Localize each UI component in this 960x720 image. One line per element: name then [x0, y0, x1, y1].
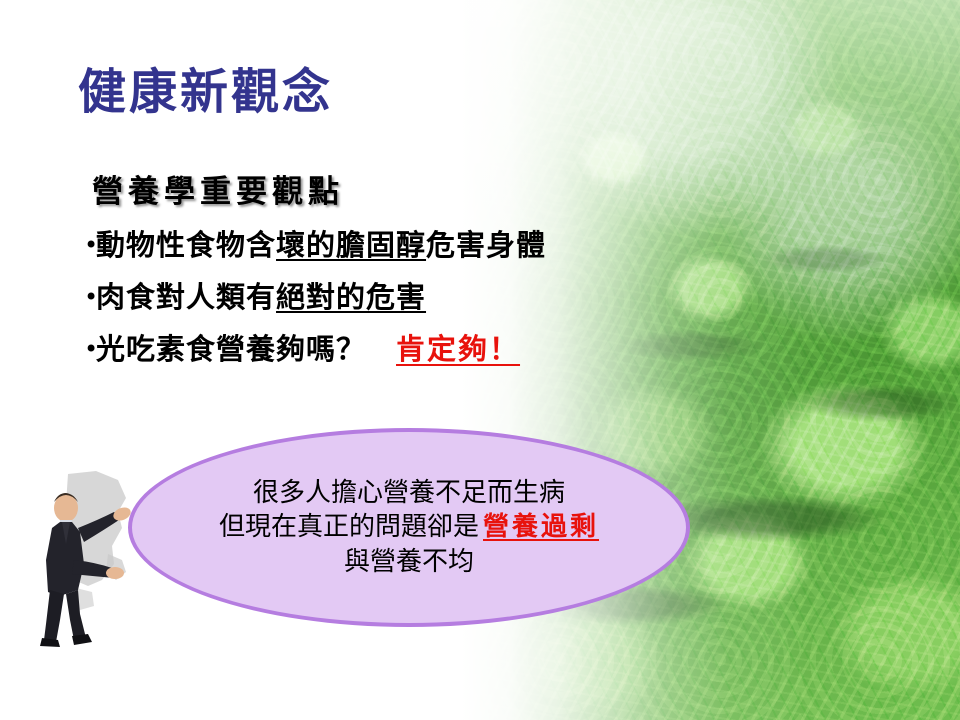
callout-ellipse: 很多人擔心營養不足而生病 但現在真正的問題卻是營養過剩 與營養不均	[128, 428, 690, 627]
callout-line-3: 與營養不均	[344, 545, 474, 580]
bullet-text-underlined: 壞的膽固醇	[276, 228, 426, 262]
bullet-text-underlined: 絕對的危害	[276, 280, 426, 314]
bullet-text-plain: 肉食對人類有	[96, 280, 276, 314]
callout-line-2: 但現在真正的問題卻是營養過剩	[219, 510, 599, 545]
bullet-text-plain: 光吃素食營養夠嗎？	[96, 332, 366, 366]
bullet-item: • 肉食對人類有絕對的危害	[84, 274, 724, 326]
bullet-dot-icon: •	[84, 285, 96, 309]
callout-line-2-plain: 但現在真正的問題卻是	[219, 512, 479, 542]
callout-line-1: 很多人擔心營養不足而生病	[253, 476, 565, 511]
bullet-dot-icon: •	[84, 337, 96, 361]
section-heading: 營養學重要觀點	[92, 166, 344, 211]
slide-title: 健康新觀念	[78, 66, 333, 119]
bullet-item: • 光吃素食營養夠嗎？ 肯定夠！	[84, 326, 724, 378]
bullet-dot-icon: •	[84, 233, 96, 257]
bullet-answer-highlight: 肯定夠！	[396, 326, 520, 368]
bullet-text: 動物性食物含壞的膽固醇危害身體	[96, 222, 546, 264]
bullet-text-plain-tail: 危害身體	[426, 228, 546, 262]
bullet-list: • 動物性食物含壞的膽固醇危害身體 • 肉食對人類有絕對的危害 • 光吃素食營養…	[84, 222, 724, 378]
bullet-item: • 動物性食物含壞的膽固醇危害身體	[84, 222, 724, 274]
callout-emphasis: 營養過剩	[483, 512, 599, 542]
bullet-text: 肉食對人類有絕對的危害	[96, 274, 426, 316]
bullet-text: 光吃素食營養夠嗎？	[96, 326, 366, 368]
slide-content: 健康新觀念 營養學重要觀點 • 動物性食物含壞的膽固醇危害身體 • 肉食對人類有…	[0, 0, 960, 720]
businessman-presenting-figure-icon	[22, 468, 154, 650]
presentation-slide: 健康新觀念 營養學重要觀點 • 動物性食物含壞的膽固醇危害身體 • 肉食對人類有…	[0, 0, 960, 720]
bullet-text-plain: 動物性食物含	[96, 228, 276, 262]
